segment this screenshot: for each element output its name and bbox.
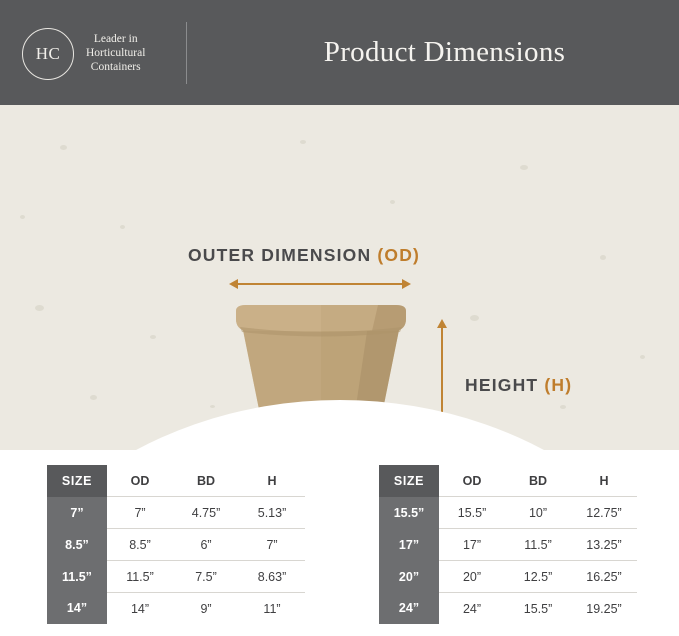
cell-bd: 7.5” — [173, 561, 239, 593]
cell-od: 14” — [107, 593, 173, 625]
table-row: 8.5” 8.5” 6” 7” — [47, 529, 305, 561]
table-row: 7” 7” 4.75” 5.13” — [47, 497, 305, 529]
texture-speckle — [150, 335, 156, 339]
column-header-bd: BD — [505, 465, 571, 497]
table-header: SIZE OD BD H — [47, 465, 305, 497]
texture-speckle — [390, 200, 395, 204]
label-height: HEIGHT (H) — [465, 375, 572, 396]
texture-speckle — [470, 315, 479, 321]
column-header-size: SIZE — [47, 465, 107, 497]
dimensions-diagram: OUTER DIMENSION (OD) BASE DIMENSION (BD)… — [0, 105, 679, 450]
cell-h: 5.13” — [239, 497, 305, 529]
texture-speckle — [640, 355, 645, 359]
cell-bd: 6” — [173, 529, 239, 561]
cell-h: 8.63” — [239, 561, 305, 593]
texture-speckle — [35, 305, 44, 311]
cell-od: 7” — [107, 497, 173, 529]
label-height-abbr: (H) — [544, 375, 572, 395]
cell-size: 15.5” — [379, 497, 439, 529]
cell-size: 17” — [379, 529, 439, 561]
panel-bottom-curve — [0, 400, 679, 450]
cell-od: 20” — [439, 561, 505, 593]
table-row: 11.5” 11.5” 7.5” 8.63” — [47, 561, 305, 593]
label-height-text: HEIGHT — [465, 375, 538, 395]
texture-speckle — [60, 145, 67, 150]
table-row: 20” 20” 12.5” 16.25” — [379, 561, 637, 593]
cell-bd: 11.5” — [505, 529, 571, 561]
cell-h: 19.25” — [571, 593, 637, 625]
cell-h: 11” — [239, 593, 305, 625]
cell-od: 11.5” — [107, 561, 173, 593]
texture-speckle — [300, 140, 306, 144]
label-outer-dimension-abbr: (OD) — [377, 245, 420, 265]
cell-od: 15.5” — [439, 497, 505, 529]
column-header-od: OD — [439, 465, 505, 497]
table-header-row: SIZE OD BD H — [47, 465, 305, 497]
cell-size: 14” — [47, 593, 107, 625]
table-row: 24” 24” 15.5” 19.25” — [379, 593, 637, 625]
logo-tagline-line3: Containers — [86, 60, 145, 74]
cell-bd: 12.5” — [505, 561, 571, 593]
table-row: 17” 17” 11.5” 13.25” — [379, 529, 637, 561]
dimensions-tables: SIZE OD BD H 7” 7” 4.75” 5.13” 8.5” 8.5”… — [0, 465, 679, 625]
pot-rim-shadow — [372, 305, 406, 331]
table-header: SIZE OD BD H — [379, 465, 637, 497]
column-header-bd: BD — [173, 465, 239, 497]
logo-circle-icon: HC — [22, 28, 74, 80]
table-row: 15.5” 15.5” 10” 12.75” — [379, 497, 637, 529]
logo-tagline-line2: Horticultural — [86, 46, 145, 60]
table-body: 15.5” 15.5” 10” 12.75” 17” 17” 11.5” 13.… — [379, 497, 637, 625]
product-dimensions-page: HC Leader in Horticultural Containers Pr… — [0, 0, 679, 636]
texture-speckle — [20, 215, 25, 219]
header-divider — [186, 22, 187, 84]
cell-bd: 9” — [173, 593, 239, 625]
table-row: 14” 14” 9” 11” — [47, 593, 305, 625]
dimensions-table-right: SIZE OD BD H 15.5” 15.5” 10” 12.75” 17” … — [379, 465, 637, 624]
table-body: 7” 7” 4.75” 5.13” 8.5” 8.5” 6” 7” 11.5” … — [47, 497, 305, 625]
column-header-od: OD — [107, 465, 173, 497]
cell-h: 13.25” — [571, 529, 637, 561]
texture-speckle — [600, 255, 606, 260]
cell-bd: 15.5” — [505, 593, 571, 625]
cell-od: 24” — [439, 593, 505, 625]
cell-size: 24” — [379, 593, 439, 625]
label-outer-dimension-text: OUTER DIMENSION — [188, 245, 371, 265]
cell-bd: 4.75” — [173, 497, 239, 529]
texture-speckle — [120, 225, 125, 229]
column-header-h: H — [239, 465, 305, 497]
texture-speckle — [90, 395, 97, 400]
pot-rim-highlight — [236, 305, 321, 331]
dimensions-table-left: SIZE OD BD H 7” 7” 4.75” 5.13” 8.5” 8.5”… — [47, 465, 305, 624]
cell-od: 17” — [439, 529, 505, 561]
logo-tagline-line1: Leader in — [86, 32, 145, 46]
cell-od: 8.5” — [107, 529, 173, 561]
brand-logo: HC Leader in Horticultural Containers — [22, 28, 145, 80]
label-outer-dimension: OUTER DIMENSION (OD) — [188, 245, 420, 266]
cell-size: 11.5” — [47, 561, 107, 593]
cell-size: 20” — [379, 561, 439, 593]
cell-size: 8.5” — [47, 529, 107, 561]
table-header-row: SIZE OD BD H — [379, 465, 637, 497]
page-title: Product Dimensions — [210, 0, 679, 105]
texture-speckle — [210, 405, 215, 408]
cell-size: 7” — [47, 497, 107, 529]
column-header-size: SIZE — [379, 465, 439, 497]
texture-speckle — [560, 405, 566, 409]
cell-h: 7” — [239, 529, 305, 561]
double-arrow-horizontal-icon-od — [237, 283, 403, 285]
texture-speckle — [520, 165, 528, 170]
page-header: HC Leader in Horticultural Containers Pr… — [0, 0, 679, 105]
cell-h: 16.25” — [571, 561, 637, 593]
column-header-h: H — [571, 465, 637, 497]
cell-h: 12.75” — [571, 497, 637, 529]
logo-tagline: Leader in Horticultural Containers — [86, 32, 145, 76]
cell-bd: 10” — [505, 497, 571, 529]
logo-monogram: HC — [36, 44, 61, 64]
